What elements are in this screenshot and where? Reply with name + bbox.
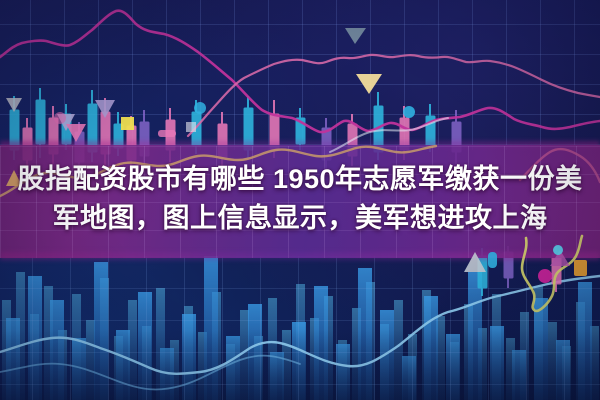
headline-line-2: 军地图，图上信息显示，美军想进攻上海 (0, 199, 600, 238)
triangle-up-icon (464, 252, 486, 272)
circle-marker (54, 112, 66, 124)
circle-marker (403, 106, 415, 118)
square-marker (121, 117, 134, 130)
triangle-down-icon (345, 28, 366, 44)
square-marker (186, 122, 196, 132)
triangle-down-icon (95, 100, 115, 118)
triangle-down-icon (356, 74, 382, 94)
headline-line-1: 股指配资股市有哪些 1950年志愿军缴获一份美 (0, 160, 600, 199)
circle-marker (538, 269, 552, 283)
banner-thumbnail: 股指配资股市有哪些 1950年志愿军缴获一份美 军地图，图上信息显示，美军想进攻… (0, 0, 600, 400)
pill-marker (158, 130, 176, 137)
circle-marker (194, 102, 206, 114)
triangle-down-icon (66, 124, 86, 142)
square-marker (574, 260, 587, 276)
triangle-down-icon (6, 98, 22, 112)
page-title: 股指配资股市有哪些 1950年志愿军缴获一份美 军地图，图上信息显示，美军想进攻… (0, 160, 600, 238)
circle-marker (553, 245, 563, 255)
pill-marker (488, 252, 497, 268)
